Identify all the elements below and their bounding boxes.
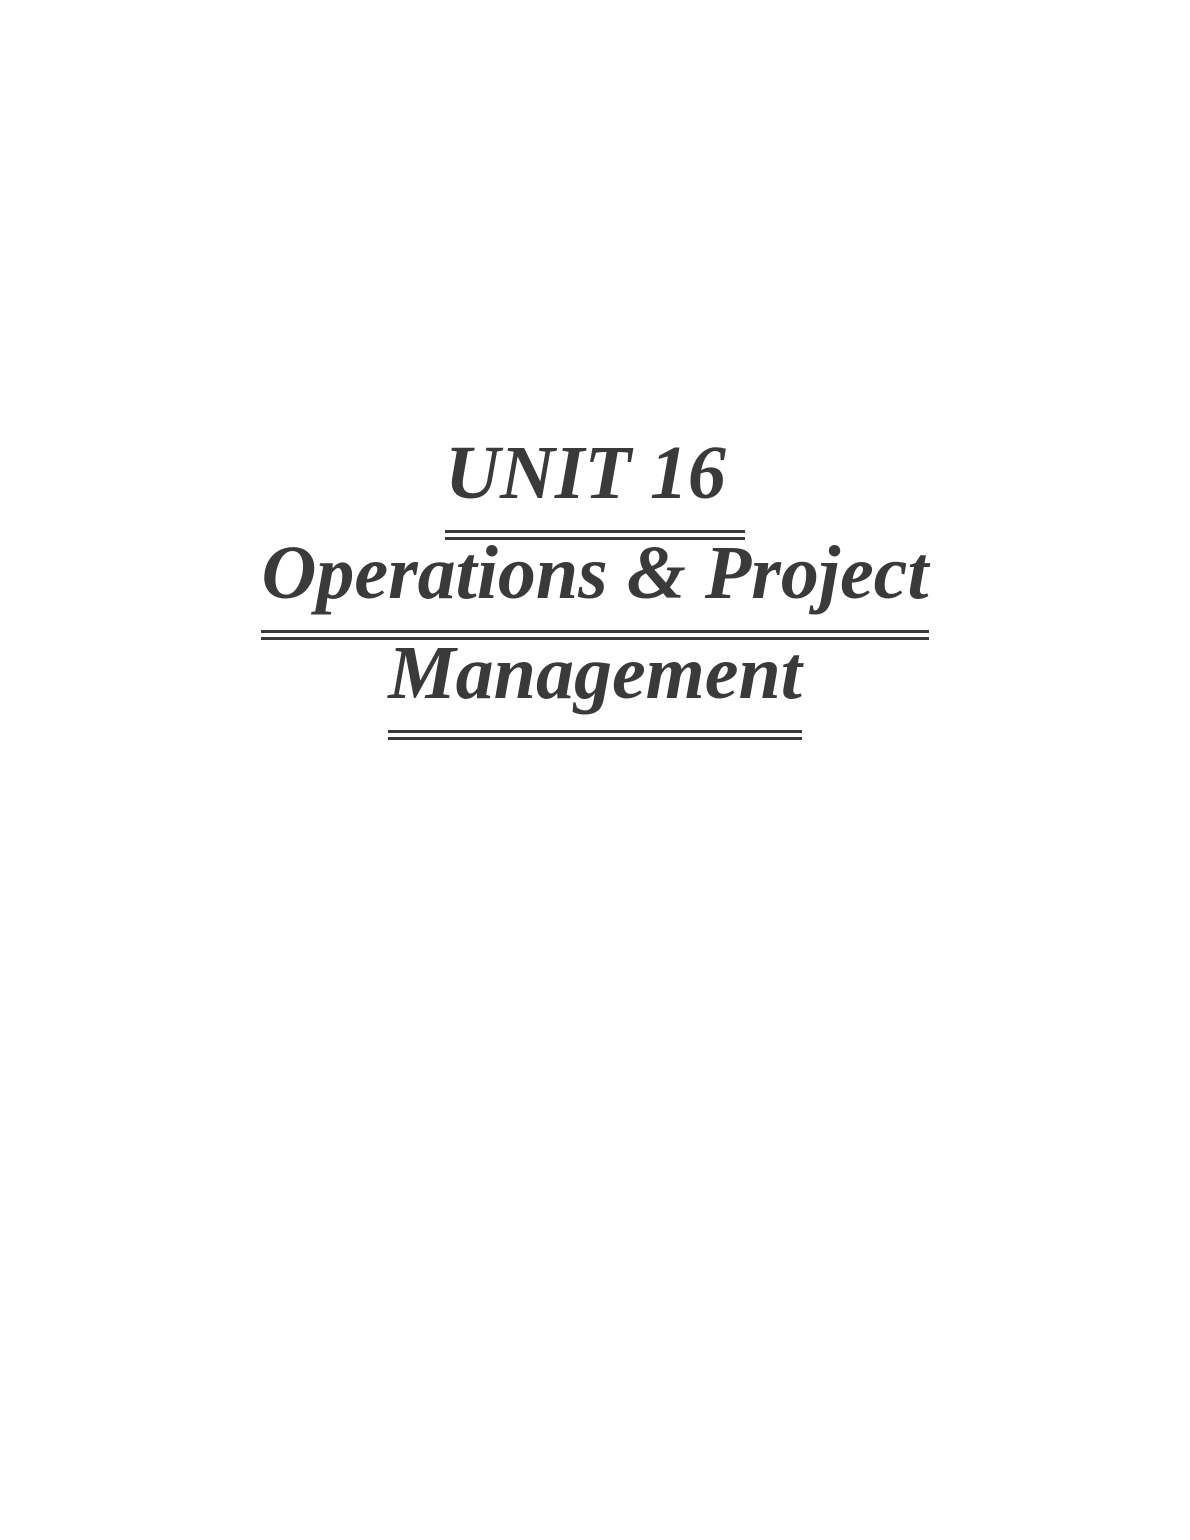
title-line-3: Management <box>0 624 1190 724</box>
title-line-1-text: UNIT 16 <box>445 424 745 524</box>
title-line-3-text: Management <box>388 624 802 724</box>
page-title: UNIT 16 Operations & Project Management <box>0 424 1190 724</box>
title-line-1: UNIT 16 <box>0 424 1190 524</box>
document-page: UNIT 16 Operations & Project Management <box>0 0 1190 1540</box>
title-line-2-text: Operations & Project <box>261 524 928 624</box>
title-line-2: Operations & Project <box>0 524 1190 624</box>
